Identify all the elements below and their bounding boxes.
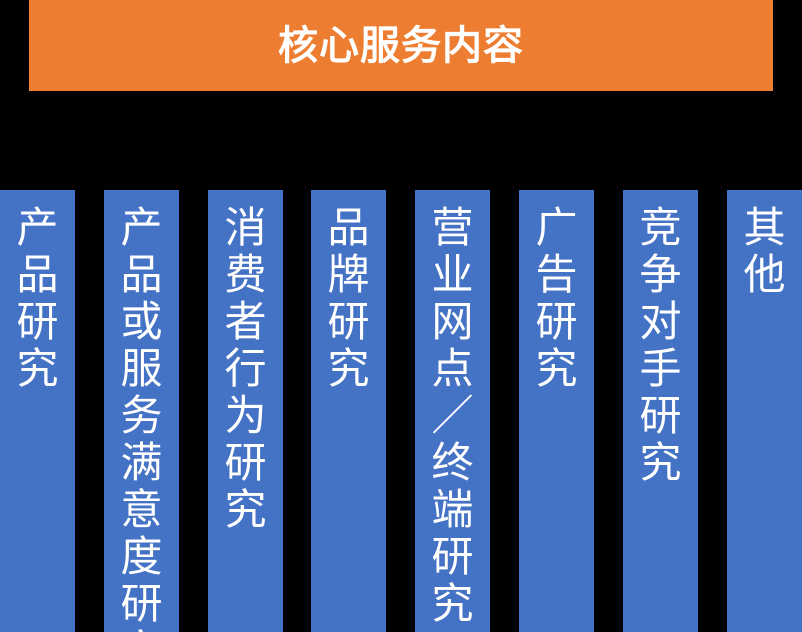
service-column-5[interactable]: 营业网点／终端研究: [415, 190, 490, 632]
service-column-2-label: 产品或服务满意度研究: [104, 204, 179, 632]
service-column-7-label: 竞争对手研究: [623, 204, 698, 486]
service-columns-band: 产品研究 产品或服务满意度研究 消费者行为研究 品牌研究 营业网点／终端研究 广…: [0, 190, 802, 632]
service-column-4[interactable]: 品牌研究: [311, 190, 386, 632]
page-title: 核心服务内容: [278, 26, 524, 66]
service-column-3[interactable]: 消费者行为研究: [208, 190, 283, 632]
service-column-6[interactable]: 广告研究: [519, 190, 594, 632]
service-column-7[interactable]: 竞争对手研究: [623, 190, 698, 632]
service-column-8-label: 其他: [727, 204, 802, 298]
header-banner: 核心服务内容: [29, 0, 773, 91]
service-column-8[interactable]: 其他: [727, 190, 802, 632]
service-column-4-label: 品牌研究: [311, 204, 386, 392]
service-column-6-label: 广告研究: [519, 204, 594, 392]
service-column-3-label: 消费者行为研究: [208, 204, 283, 533]
service-column-1-label: 产品研究: [0, 204, 75, 392]
service-column-1[interactable]: 产品研究: [0, 190, 75, 632]
service-column-5-label: 营业网点／终端研究: [415, 204, 490, 627]
slide-canvas: 核心服务内容 产品研究 产品或服务满意度研究 消费者行为研究 品牌研究 营业网点…: [0, 0, 802, 632]
service-column-2[interactable]: 产品或服务满意度研究: [104, 190, 179, 632]
